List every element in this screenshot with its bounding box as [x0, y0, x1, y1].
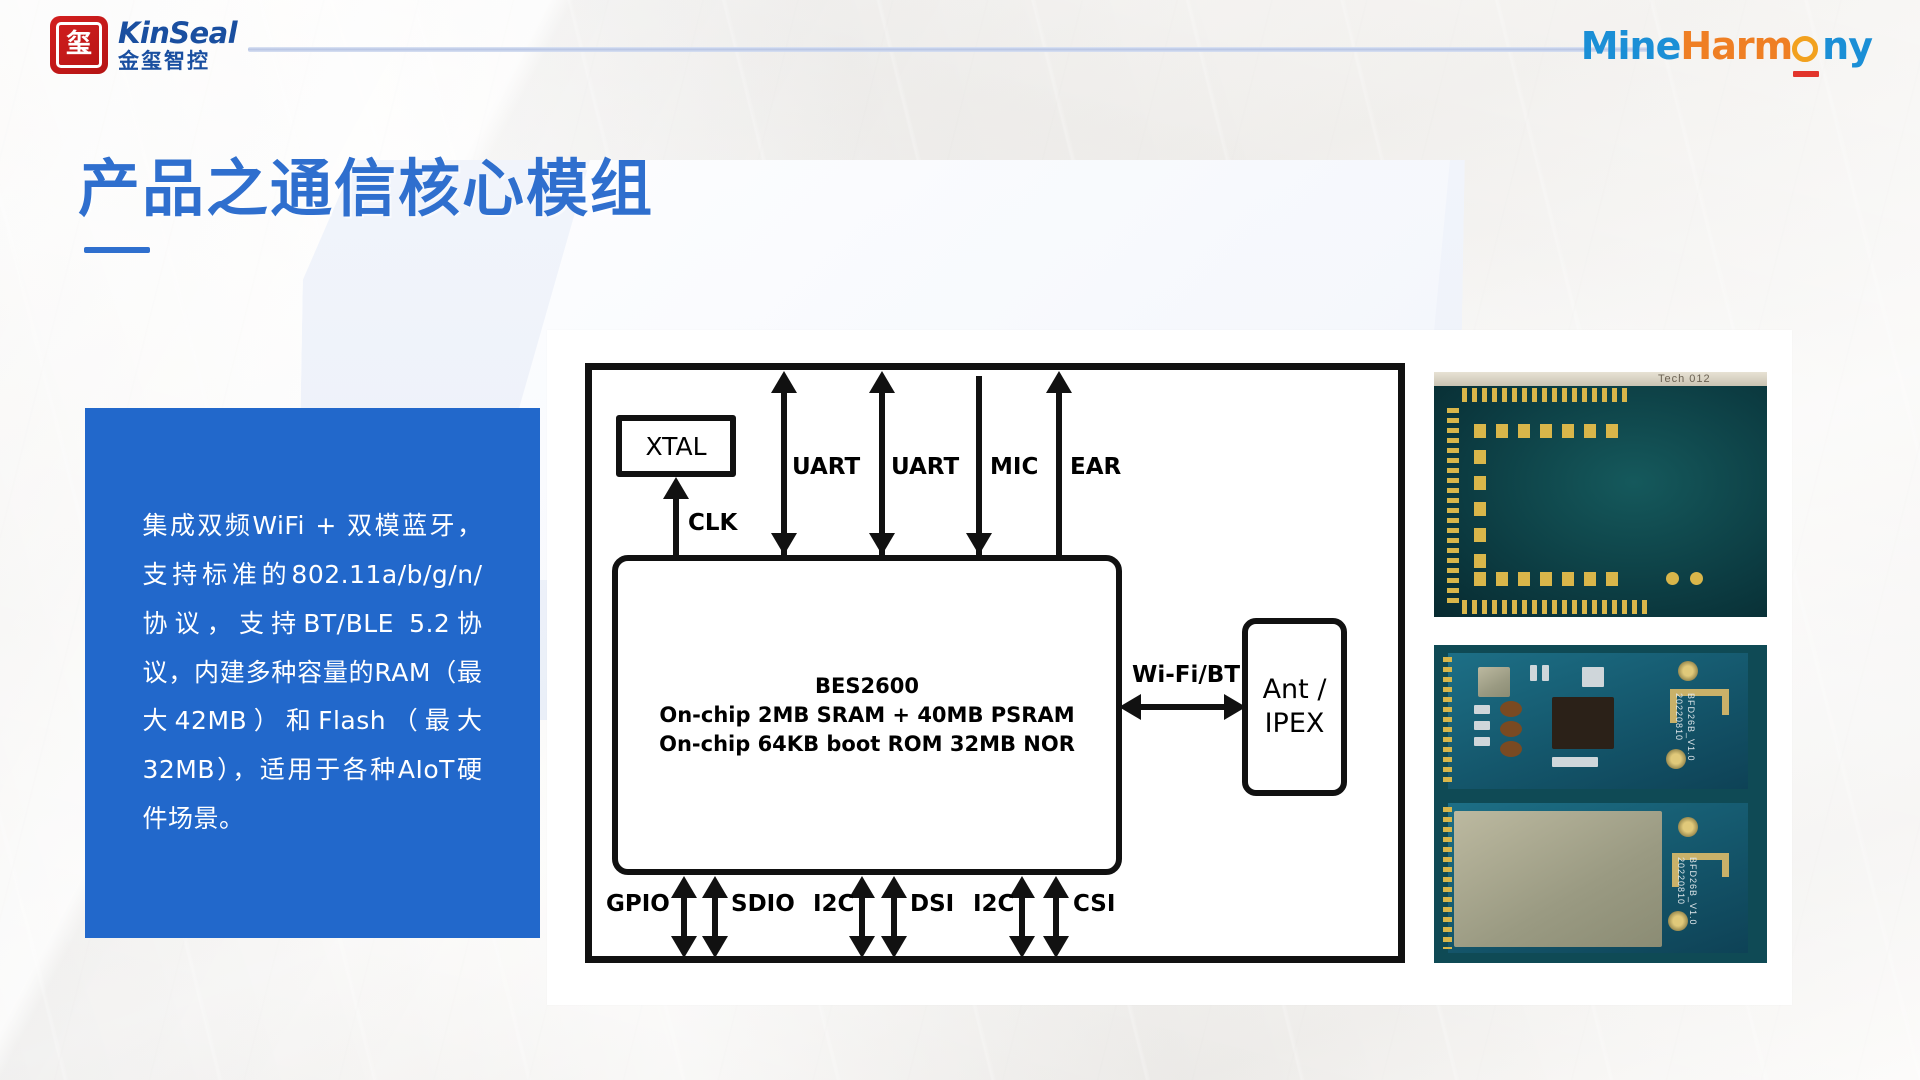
i2c1-label: I2C: [813, 891, 854, 917]
dsi-arrow-head-down: [881, 936, 907, 958]
o-ring-shape: [1792, 36, 1818, 62]
uart2-arrow-head-up: [869, 371, 895, 393]
uart1-arrow-head-down: [771, 533, 797, 555]
gpio-arrow-head-down: [671, 936, 697, 958]
pcb-smd: [1552, 757, 1598, 767]
dsi-label: DSI: [910, 891, 954, 917]
pcb-pad-round: [1666, 572, 1679, 585]
pcb-pad: [1562, 572, 1574, 586]
silkscreen-part-number: BFD26B_V1.0: [1686, 693, 1696, 762]
mineharmony-mine: Mine: [1581, 24, 1681, 68]
kinseal-wordmark: KinSeal 金玺智控: [118, 19, 237, 72]
i2c2-label: I2C: [973, 891, 1014, 917]
pcb-pad: [1606, 424, 1618, 438]
mineharmony-logo: Mine Harm ny: [1581, 24, 1872, 68]
pcb-back-top-strip: [1434, 372, 1767, 386]
rf-label: Wi-Fi/BT: [1132, 662, 1240, 688]
mic-label: MIC: [990, 454, 1038, 480]
pcb-pad: [1474, 476, 1486, 490]
i2c2-arrow-shaft: [1019, 897, 1025, 938]
gpio-arrow-shaft: [681, 897, 687, 938]
uart1-arrow-shaft: [781, 392, 787, 555]
pcb-smd: [1582, 667, 1604, 687]
pcb-smd: [1542, 665, 1549, 681]
pcb-front-left-pads-2: [1443, 807, 1452, 949]
photo-caption: Tech 012: [1658, 373, 1711, 385]
dsi-arrow-shaft: [891, 897, 897, 938]
mineharmony-harm: Harm: [1680, 24, 1792, 68]
pcb-main-chip: [1552, 697, 1614, 749]
pcb-pad: [1474, 502, 1486, 516]
pcb-pad: [1584, 572, 1596, 586]
clk-arrow-shaft: [673, 498, 679, 555]
pcb-pads-left-edge: [1447, 408, 1459, 604]
description-panel: 集成双频WiFi + 双模蓝牙，支持标准的802.11a/b/g/n/协议，支持…: [85, 408, 540, 938]
pcb-pad: [1606, 572, 1618, 586]
ear-label: EAR: [1070, 454, 1121, 480]
antenna-block: Ant / IPEX: [1242, 618, 1347, 796]
ipex-connector: [1668, 911, 1688, 931]
kinseal-seal-icon: 玺: [50, 16, 108, 74]
xtal-label: XTAL: [645, 432, 706, 461]
pcb-pad: [1518, 424, 1530, 438]
pcb-pad: [1474, 572, 1486, 586]
csi-arrow-head-up: [1043, 876, 1069, 898]
pcb-front-left-pads: [1443, 657, 1452, 785]
ear-arrow-head-up: [1046, 371, 1072, 393]
pcb-pads-top-edge: [1462, 388, 1632, 402]
header-divider-rule: [248, 47, 1648, 52]
block-diagram: XTAL CLK UART UART MIC EAR BES2600 On-ch…: [585, 363, 1405, 963]
pcb-pad: [1496, 572, 1508, 586]
uart1-arrow-head-up: [771, 371, 797, 393]
pcb-pad-round: [1690, 572, 1703, 585]
pcb-smd: [1530, 665, 1537, 681]
soc-block: BES2600 On-chip 2MB SRAM + 40MB PSRAM On…: [612, 555, 1122, 875]
pcb-smd: [1474, 721, 1490, 730]
uart1-label: UART: [792, 454, 860, 480]
xtal-block: XTAL: [616, 415, 736, 477]
pcb-capacitor: [1500, 721, 1522, 737]
sdio-arrow-head-down: [702, 936, 728, 958]
o-underline-shape: [1793, 71, 1819, 77]
csi-arrow-head-down: [1043, 936, 1069, 958]
uart2-arrow-head-down: [869, 533, 895, 555]
pcb-capacitor: [1500, 701, 1522, 717]
sdio-label: SDIO: [731, 891, 795, 917]
soc-memory-line-1: On-chip 2MB SRAM + 40MB PSRAM: [659, 703, 1074, 727]
ipex-connector: [1666, 749, 1686, 769]
pcb-capacitor: [1500, 741, 1522, 757]
mineharmony-ny: ny: [1822, 24, 1872, 68]
antenna-trace: [1722, 853, 1729, 877]
kinseal-name-cn: 金玺智控: [118, 51, 237, 72]
silkscreen-part-number-2: BFD26B_V1.0: [1688, 857, 1698, 926]
silkscreen-date-code-2: 20220810: [1676, 857, 1686, 905]
antenna-trace: [1722, 689, 1729, 715]
pcb-pad: [1540, 572, 1552, 586]
title-underline-bar: [84, 247, 150, 253]
rf-arrow-shaft: [1140, 704, 1226, 710]
module-photo-back: Tech 012: [1434, 372, 1767, 617]
clk-label: CLK: [688, 510, 737, 536]
seal-glyph: 玺: [50, 16, 108, 74]
mineharmony-o-icon: [1792, 24, 1822, 68]
pcb-pads-bottom-edge: [1462, 600, 1652, 614]
kinseal-name-en: KinSeal: [118, 19, 237, 48]
dsi-arrow-head-up: [881, 876, 907, 898]
pcb-pad: [1474, 528, 1486, 542]
description-text: 集成双频WiFi + 双模蓝牙，支持标准的802.11a/b/g/n/协议，支持…: [143, 502, 483, 843]
silkscreen-date-code: 20220810: [1674, 693, 1684, 741]
pcb-smd: [1474, 705, 1490, 714]
gpio-arrow-head-up: [671, 876, 697, 898]
pcb-pad: [1474, 450, 1486, 464]
mic-arrow-shaft: [976, 376, 982, 555]
i2c1-arrow-shaft: [859, 897, 865, 938]
ear-arrow-shaft: [1056, 392, 1062, 555]
gpio-label: GPIO: [606, 891, 670, 917]
i2c1-arrow-head-down: [849, 936, 875, 958]
ipex-connector: [1678, 661, 1698, 681]
pcb-smd: [1474, 737, 1490, 746]
slide-header: 玺 KinSeal 金玺智控 Mine Harm ny: [0, 0, 1920, 100]
pcb-pad: [1496, 424, 1508, 438]
soc-memory-line-2: On-chip 64KB boot ROM 32MB NOR: [659, 732, 1075, 756]
antenna-label-line-1: Ant /: [1263, 673, 1327, 707]
pcb-shield-cover: [1454, 811, 1662, 947]
i2c2-arrow-head-down: [1009, 936, 1035, 958]
clk-arrow-head: [663, 477, 689, 499]
uart2-arrow-shaft: [879, 392, 885, 555]
csi-label: CSI: [1073, 891, 1115, 917]
pcb-pad: [1474, 424, 1486, 438]
pcb-pad: [1562, 424, 1574, 438]
kinseal-logo: 玺 KinSeal 金玺智控: [50, 16, 237, 74]
soc-name: BES2600: [815, 674, 919, 698]
module-photo-front: BFD26B_V1.0 20220810 BFD26B_V1.0 2022081…: [1434, 645, 1767, 963]
ipex-connector: [1678, 817, 1698, 837]
rf-arrow-head-left: [1119, 694, 1141, 720]
pcb-pad: [1518, 572, 1530, 586]
page-title: 产品之通信核心模组: [78, 138, 654, 228]
sdio-arrow-shaft: [712, 897, 718, 938]
uart2-label: UART: [891, 454, 959, 480]
antenna-label-line-2: IPEX: [1265, 707, 1325, 741]
pcb-pad: [1474, 554, 1486, 568]
pcb-pad: [1540, 424, 1552, 438]
pcb-pad: [1584, 424, 1596, 438]
pcb-shield-can: [1478, 667, 1510, 697]
mic-arrow-head-down: [966, 533, 992, 555]
sdio-arrow-head-up: [702, 876, 728, 898]
csi-arrow-shaft: [1053, 897, 1059, 938]
